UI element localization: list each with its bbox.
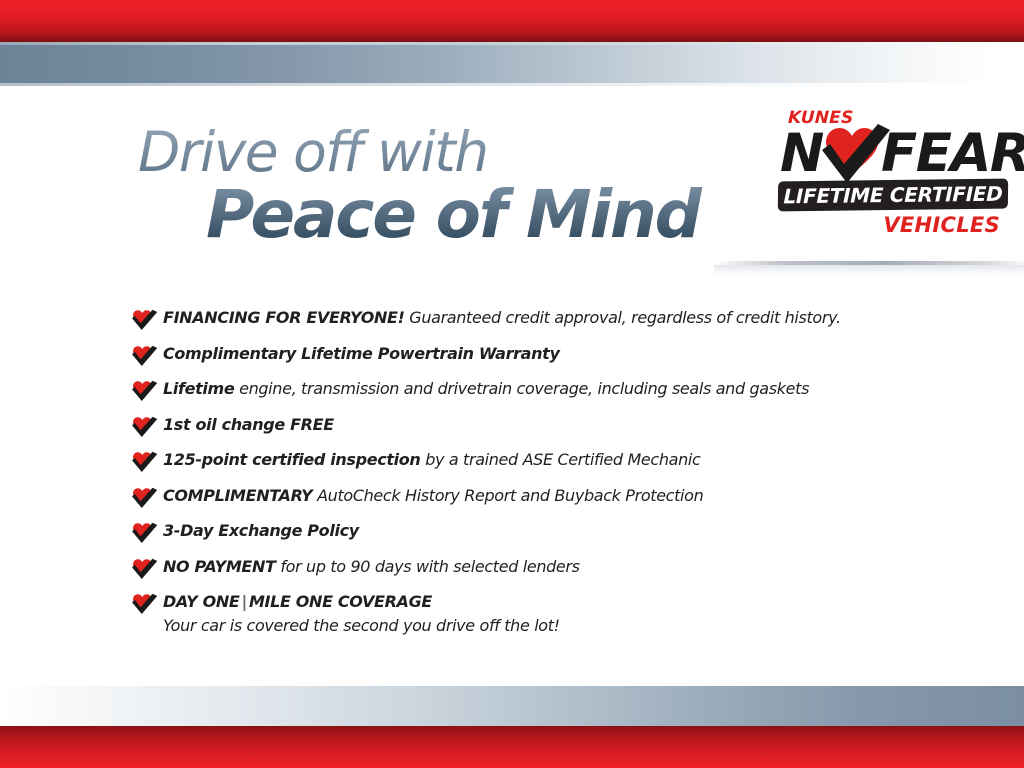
list-item-bold: Complimentary Lifetime Powertrain Warran… (163, 344, 560, 363)
benefits-list: FINANCING FOR EVERYONE! Guaranteed credi… (131, 308, 961, 649)
logo-divider-shadow (714, 265, 1024, 279)
heart-check-icon (131, 416, 159, 438)
list-item-rest: Guaranteed credit approval, regardless o… (405, 308, 841, 327)
list-item: 1st oil change FREE (131, 415, 961, 438)
list-item-text: 3-Day Exchange Policy (163, 521, 961, 541)
list-item-bold: Lifetime (163, 379, 234, 398)
list-item-bold: 125-point certified inspection (163, 450, 420, 469)
list-item-bold-2: MILE ONE COVERAGE (249, 592, 432, 611)
list-item-text: 125-point certified inspection by a trai… (163, 450, 961, 470)
list-item: FINANCING FOR EVERYONE! Guaranteed credi… (131, 308, 961, 331)
list-item-text: COMPLIMENTARY AutoCheck History Report a… (163, 486, 961, 506)
list-item-body: DAY ONE|MILE ONE COVERAGE Your car is co… (163, 592, 560, 636)
logo-word-fear: FEAR (881, 127, 1024, 180)
list-item-bold: 3-Day Exchange Policy (163, 521, 359, 540)
logo-subline-vehicles: VEHICLES (883, 213, 1000, 237)
list-item-text: Complimentary Lifetime Powertrain Warran… (163, 344, 961, 364)
list-item: 125-point certified inspection by a trai… (131, 450, 961, 473)
top-gray-band-shadow (0, 83, 1024, 86)
logo-wordmark: N FEAR (778, 127, 1010, 183)
list-item-bold: FINANCING FOR EVERYONE! (163, 308, 405, 327)
list-item: 3-Day Exchange Policy (131, 521, 961, 544)
top-red-band (0, 0, 1024, 42)
heart-check-icon (131, 487, 159, 509)
list-item-bold: NO PAYMENT (163, 557, 276, 576)
heart-check-icon (131, 345, 159, 367)
logo-certified-bar: LIFETIME CERTIFIED (778, 179, 1008, 212)
list-item: NO PAYMENT for up to 90 days with select… (131, 557, 961, 580)
logo-certified-bar-text: LIFETIME CERTIFIED (778, 179, 1008, 212)
list-item-rest: engine, transmission and drivetrain cove… (234, 379, 809, 398)
list-item-separator: | (239, 592, 249, 611)
list-item: COMPLIMENTARY AutoCheck History Report a… (131, 486, 961, 509)
heart-check-icon (131, 380, 159, 402)
list-item: DAY ONE|MILE ONE COVERAGE Your car is co… (131, 592, 961, 636)
list-item-text: FINANCING FOR EVERYONE! Guaranteed credi… (163, 308, 961, 328)
list-item-text: DAY ONE|MILE ONE COVERAGE (163, 592, 432, 611)
bottom-red-band (0, 726, 1024, 768)
list-item-text: Lifetime engine, transmission and drivet… (163, 379, 961, 399)
bottom-gray-band (0, 686, 1024, 726)
list-item-rest: for up to 90 days with selected lenders (276, 557, 580, 576)
list-item: Lifetime engine, transmission and drivet… (131, 379, 961, 402)
heart-check-icon (131, 522, 159, 544)
heart-check-icon (131, 309, 159, 331)
list-item: Complimentary Lifetime Powertrain Warran… (131, 344, 961, 367)
top-gray-band (0, 42, 1024, 83)
kunes-no-fear-logo: KUNES N FEAR LIFETIME CERTIFIED VEHICLES (778, 108, 1010, 240)
list-item-rest: by a trained ASE Certified Mechanic (420, 450, 700, 469)
advertisement-canvas: Drive off with Peace of Mind KUNES N FEA… (0, 0, 1024, 768)
list-item-bold: COMPLIMENTARY (163, 486, 312, 505)
list-item-bold: DAY ONE (163, 592, 239, 611)
list-item-rest: AutoCheck History Report and Buyback Pro… (312, 486, 703, 505)
headline-line-2: Peace of Mind (206, 182, 748, 248)
heart-check-icon (131, 451, 159, 473)
list-item-text: 1st oil change FREE (163, 415, 961, 435)
list-item-subtext: Your car is covered the second you drive… (163, 616, 560, 636)
heart-check-icon (131, 593, 159, 615)
list-item-bold: 1st oil change FREE (163, 415, 334, 434)
list-item-text: NO PAYMENT for up to 90 days with select… (163, 557, 961, 577)
headline-block: Drive off with Peace of Mind (138, 124, 748, 248)
heart-check-icon (131, 558, 159, 580)
top-gray-band-highlight (0, 42, 1024, 45)
headline-line-1: Drive off with (138, 124, 748, 180)
